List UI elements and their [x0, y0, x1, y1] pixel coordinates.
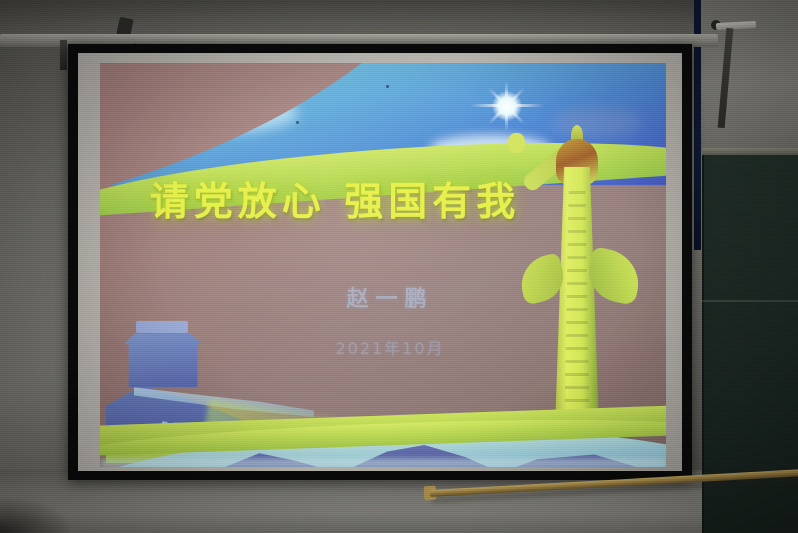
monument-fist — [508, 133, 525, 153]
chalkboard-seam — [702, 300, 798, 302]
sky-speck — [296, 121, 299, 124]
slide-author: 赵一鹏 — [200, 281, 580, 313]
great-wall-tower — [124, 329, 202, 387]
classroom-scene: 请党放心 强国有我 赵一鹏 2021年10月 — [0, 0, 798, 533]
slide-title: 请党放心 强国有我 — [100, 171, 570, 227]
wall-corner-shadow — [0, 498, 70, 533]
projection-screen-surface: 请党放心 强国有我 赵一鹏 2021年10月 — [78, 53, 682, 471]
slide-date: 2021年10月 — [200, 335, 580, 359]
slide-mist — [100, 459, 666, 467]
roller-bracket-left — [60, 40, 67, 70]
projection-screen-frame: 请党放心 强国有我 赵一鹏 2021年10月 — [68, 44, 692, 480]
sky-speck — [386, 85, 389, 88]
chalkboard-rail — [702, 148, 798, 155]
great-wall-tower-roof — [136, 321, 188, 333]
presentation-slide: 请党放心 强国有我 赵一鹏 2021年10月 — [100, 63, 666, 467]
